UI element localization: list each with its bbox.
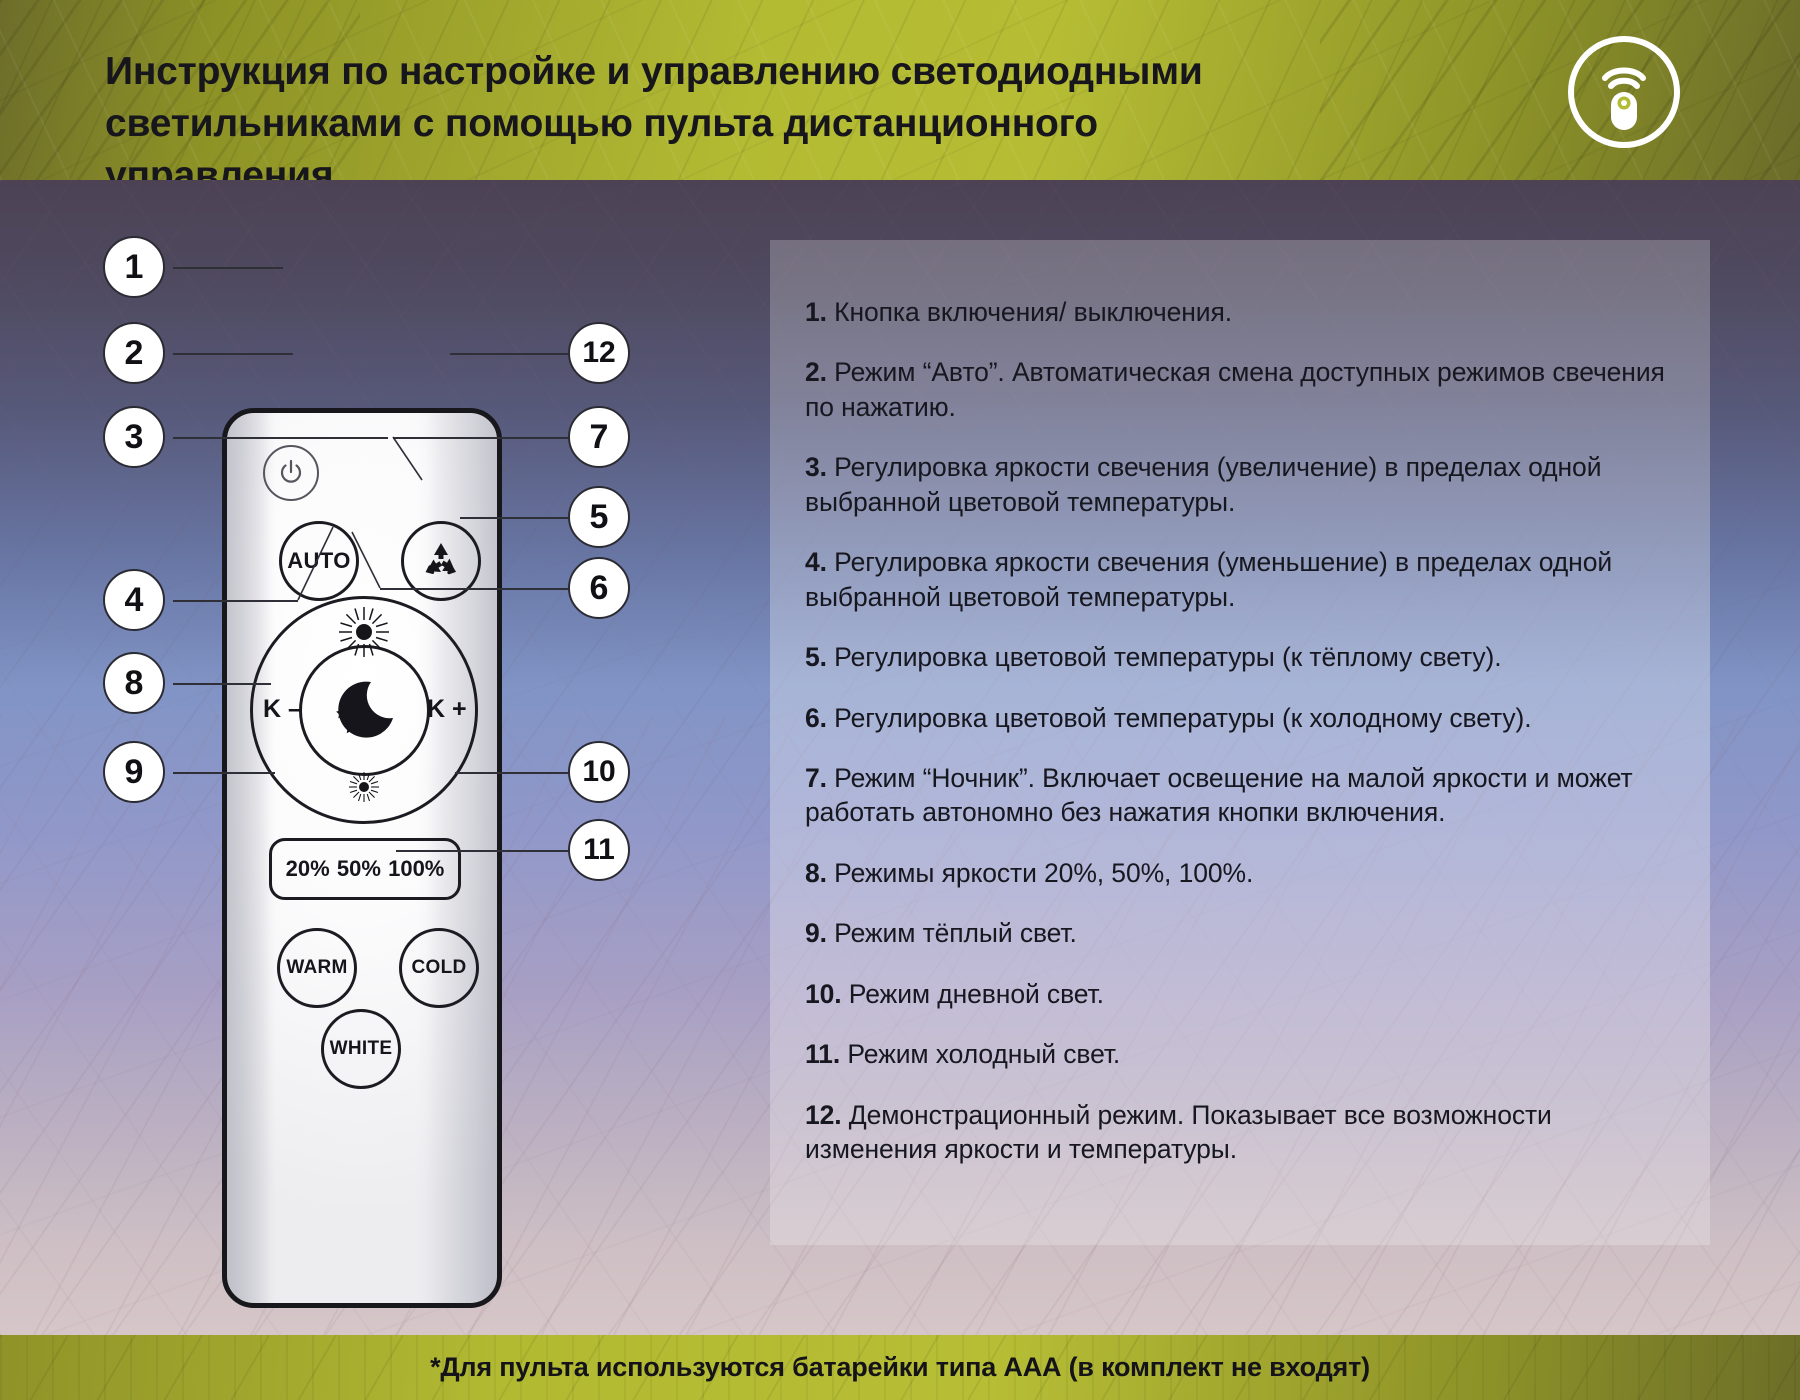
list-item: 1. Кнопка включения/ выключения. xyxy=(805,295,1685,329)
callout-badge-label: 7 xyxy=(590,418,609,457)
callout-badge-8[interactable]: 8 xyxy=(103,652,165,714)
list-item: 2. Режим “Авто”. Автоматическая смена до… xyxy=(805,355,1685,424)
list-item-text: Режим “Авто”. Автоматическая смена досту… xyxy=(805,357,1665,421)
footer-banner: *Для пульта используются батарейки типа … xyxy=(0,1335,1800,1400)
callout-badge-label: 4 xyxy=(125,581,144,620)
callout-badge-label: 6 xyxy=(590,569,609,608)
list-item: 11. Режим холодный свет. xyxy=(805,1037,1685,1071)
legend-list: 1. Кнопка включения/ выключения. 2. Режи… xyxy=(805,295,1685,1192)
list-item: 9. Режим тёплый свет. xyxy=(805,916,1685,950)
list-item-text: Режимы яркости 20%, 50%, 100%. xyxy=(827,858,1253,888)
callout-badge-label: 1 xyxy=(125,248,144,287)
list-item-text: Регулировка цветовой температуры (к холо… xyxy=(827,703,1532,733)
list-item-number: 3. xyxy=(805,452,827,482)
list-item: 7. Режим “Ночник”. Включает освещение на… xyxy=(805,761,1685,830)
callout-badge-10[interactable]: 10 xyxy=(568,741,630,803)
list-item-text: Регулировка яркости свечения (уменьшение… xyxy=(805,547,1612,611)
list-item-text: Режим дневной свет. xyxy=(842,979,1104,1009)
list-item: 12. Демонстрационный режим. Показывает в… xyxy=(805,1098,1685,1167)
list-item-text: Регулировка яркости свечения (увеличение… xyxy=(805,452,1601,516)
list-item-text: Режим холодный свет. xyxy=(840,1039,1120,1069)
callout-badge-label: 5 xyxy=(590,498,609,537)
list-item-text: Режим тёплый свет. xyxy=(827,918,1077,948)
list-item: 10. Режим дневной свет. xyxy=(805,977,1685,1011)
callout-badge-3[interactable]: 3 xyxy=(103,406,165,468)
list-item-number: 11. xyxy=(805,1039,840,1069)
callout-badge-7[interactable]: 7 xyxy=(568,406,630,468)
list-item-number: 4. xyxy=(805,547,827,577)
callout-badge-label: 3 xyxy=(125,418,144,457)
list-item: 5. Регулировка цветовой температуры (к т… xyxy=(805,640,1685,674)
list-item-number: 7. xyxy=(805,763,827,793)
list-item-number: 1. xyxy=(805,297,827,327)
list-item-text: Кнопка включения/ выключения. xyxy=(827,297,1232,327)
callout-badge-label: 9 xyxy=(125,753,144,792)
header-banner: Инструкция по настройке и управлению све… xyxy=(0,0,1800,180)
list-item: 8. Режимы яркости 20%, 50%, 100%. xyxy=(805,856,1685,890)
list-item-number: 9. xyxy=(805,918,827,948)
list-item-number: 10. xyxy=(805,979,842,1009)
callout-badge-9[interactable]: 9 xyxy=(103,741,165,803)
callout-badge-label: 12 xyxy=(582,336,615,370)
list-item: 4. Регулировка яркости свечения (уменьше… xyxy=(805,545,1685,614)
list-item: 6. Регулировка цветовой температуры (к х… xyxy=(805,701,1685,735)
list-item-text: Регулировка цветовой температуры (к тёпл… xyxy=(827,642,1502,672)
white-button-label: WHITE xyxy=(330,1038,393,1060)
header-pattern-right xyxy=(1320,0,1800,180)
callout-badge-11[interactable]: 11 xyxy=(568,819,630,881)
list-item-text: Режим “Ночник”. Включает освещение на ма… xyxy=(805,763,1633,827)
callout-badge-label: 8 xyxy=(125,664,144,703)
callout-badge-4[interactable]: 4 xyxy=(103,569,165,631)
list-item-text: Демонстрационный режим. Показывает все в… xyxy=(805,1100,1552,1164)
list-item-number: 2. xyxy=(805,357,827,387)
list-item-number: 8. xyxy=(805,858,827,888)
list-item-number: 5. xyxy=(805,642,827,672)
callout-badge-5[interactable]: 5 xyxy=(568,486,630,548)
footer-note: *Для пульта используются батарейки типа … xyxy=(0,1335,1800,1400)
callout-badge-12[interactable]: 12 xyxy=(568,322,630,384)
callout-badge-label: 2 xyxy=(125,334,144,373)
remote-control-signal-icon xyxy=(1568,36,1680,148)
callout-badge-label: 10 xyxy=(582,755,615,789)
list-item-number: 12. xyxy=(805,1100,842,1130)
white-light-button[interactable]: WHITE xyxy=(321,1009,401,1089)
list-item: 3. Регулировка яркости свечения (увеличе… xyxy=(805,450,1685,519)
page-title: Инструкция по настройке и управлению све… xyxy=(105,46,1305,180)
callout-badge-label: 11 xyxy=(583,833,615,867)
list-item-number: 6. xyxy=(805,703,827,733)
main-stage: 1. Кнопка включения/ выключения. 2. Режи… xyxy=(0,180,1800,1335)
callout-badge-6[interactable]: 6 xyxy=(568,557,630,619)
callout-badge-1[interactable]: 1 xyxy=(103,236,165,298)
callout-badge-2[interactable]: 2 xyxy=(103,322,165,384)
